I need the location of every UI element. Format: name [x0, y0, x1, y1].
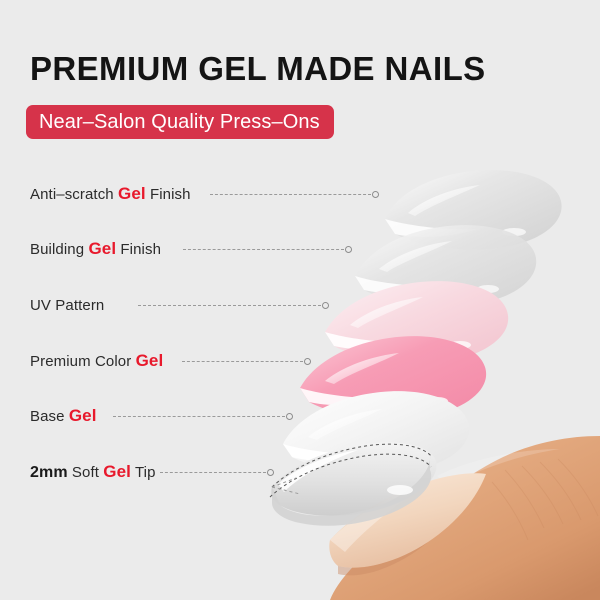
leader-endpoint-marker: [267, 469, 274, 476]
leader-dash: [138, 305, 321, 306]
callout-label-part: Finish: [146, 186, 191, 203]
page-title: PREMIUM GEL MADE NAILS: [30, 52, 486, 85]
callout-label-part: Gel: [88, 239, 116, 258]
callout-anti-scratch-gel-finish: Anti–scratch Gel Finish: [30, 183, 191, 205]
leader-endpoint-marker: [372, 191, 379, 198]
callout-label-part: UV Pattern: [30, 297, 104, 314]
leader-dash: [182, 361, 303, 362]
callout-label-part: Base: [30, 408, 69, 425]
callout-building-gel-finish: Building Gel Finish: [30, 238, 161, 260]
callout-label-part: Tip: [131, 464, 156, 481]
leader-line-2mm-soft-gel-tip: [160, 467, 274, 478]
soft-gel-tip-layer: [270, 442, 437, 525]
callout-label: Base Gel: [30, 406, 97, 426]
callout-premium-color-gel: Premium Color Gel: [30, 350, 163, 372]
leader-endpoint-marker: [345, 246, 352, 253]
callout-label-part: Soft: [68, 464, 104, 481]
callout-label-part: Gel: [69, 406, 97, 425]
callout-label-part: Gel: [136, 351, 164, 370]
callout-label: Anti–scratch Gel Finish: [30, 184, 191, 204]
leader-line-base-gel: [113, 411, 293, 422]
callout-label-part: Gel: [103, 462, 131, 481]
premium-color-gel-layer: [300, 336, 486, 419]
callout-label: Premium Color Gel: [30, 351, 163, 371]
callout-label: UV Pattern: [30, 297, 104, 314]
callout-base-gel: Base Gel: [30, 405, 97, 427]
fingertip-photo: [329, 436, 600, 600]
callout-2mm-soft-gel-tip: 2mm Soft Gel Tip: [30, 461, 156, 483]
uv-pattern-layer: [325, 281, 508, 363]
subtitle-badge: Near–Salon Quality Press–Ons: [26, 105, 334, 139]
callout-label: 2mm Soft Gel Tip: [30, 462, 156, 482]
leader-endpoint-marker: [322, 302, 329, 309]
leader-dash: [183, 249, 344, 250]
leader-dash: [113, 416, 285, 417]
building-gel-finish-layer: [355, 225, 536, 306]
leader-endpoint-marker: [304, 358, 311, 365]
callout-label-part: Finish: [116, 241, 161, 258]
leader-dash: [210, 194, 371, 195]
callout-label-part: Anti–scratch: [30, 186, 118, 203]
product-infographic: PREMIUM GEL MADE NAILS Near–Salon Qualit…: [0, 0, 600, 600]
base-gel-layer: [283, 391, 469, 474]
leader-line-uv-pattern: [138, 300, 329, 311]
leader-line-building-gel-finish: [183, 244, 352, 255]
callout-uv-pattern: UV Pattern: [30, 294, 104, 316]
callout-label: Building Gel Finish: [30, 239, 161, 259]
leader-endpoint-marker: [286, 413, 293, 420]
leader-line-premium-color-gel: [182, 356, 311, 367]
leader-dash: [160, 472, 266, 473]
leader-line-anti-scratch-gel-finish: [210, 189, 379, 200]
subtitle-badge-label: Near–Salon Quality Press–Ons: [39, 111, 320, 134]
callout-label-part: Premium Color: [30, 353, 136, 370]
callout-label-part: 2mm: [30, 464, 68, 481]
callout-label-part: Building: [30, 241, 88, 258]
callout-label-part: Gel: [118, 184, 146, 203]
anti-scratch-gel-finish-layer: [385, 170, 562, 250]
